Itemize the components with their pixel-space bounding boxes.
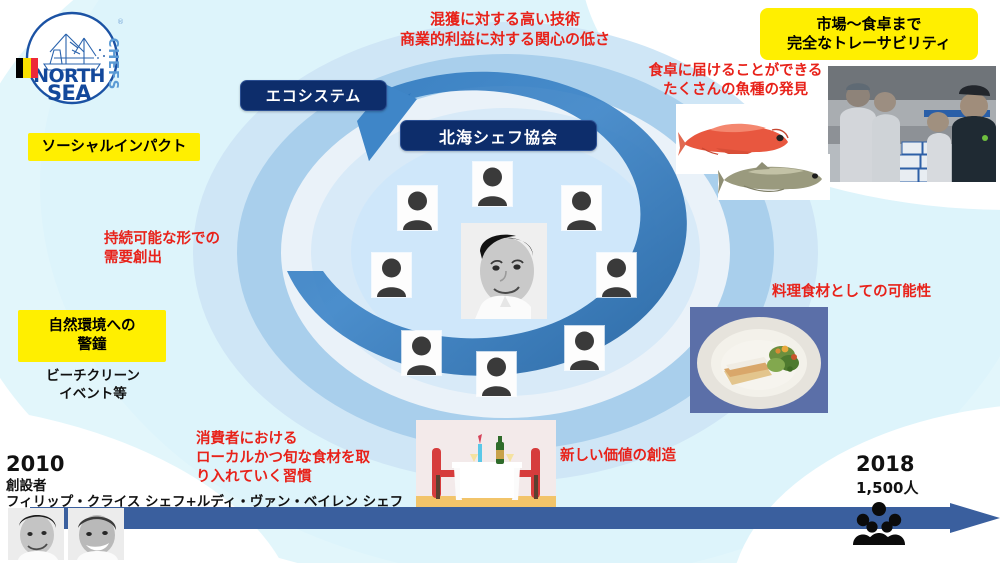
badge-nature-alarm: 自然環境への 警鐘 — [18, 310, 166, 362]
timeline-start-year: 2010 — [6, 452, 64, 476]
member-avatar — [477, 352, 516, 396]
founder-philippe-portrait — [8, 508, 64, 560]
badge-traceability-line1: 市場～食卓まで — [787, 15, 951, 34]
founder-rudy-portrait — [68, 508, 124, 560]
badge-traceability-line2: 完全なトレーサビリティ — [787, 34, 951, 53]
slide-canvas: NORTH SEA CHEFS ® エコシステム 北海シェフ協会 ソーシャルイン… — [0, 0, 1000, 563]
annotation-beach-clean: ビーチクリーン イベント等 — [18, 368, 168, 403]
badge-nature-alarm-line1: 自然環境への — [49, 317, 136, 336]
annotation-demand-creation-line2: 需要創出 — [104, 249, 294, 268]
label-association-text: 北海シェフ協会 — [439, 124, 558, 148]
timeline-end-count: 1,500人 — [856, 477, 918, 498]
north-sea-chefs-logo: NORTH SEA CHEFS ® — [14, 6, 132, 116]
founder-photos — [8, 508, 128, 560]
svg-text:®: ® — [117, 18, 124, 26]
label-association: 北海シェフ協会 — [400, 120, 597, 151]
center-chef-portrait — [461, 223, 547, 319]
annotation-cooking-potential: 料理食材としての可能性 — [772, 283, 992, 302]
annotation-fish-discovery: 食卓に届けることができる たくさんの魚種の発見 — [628, 62, 843, 100]
annotation-fish-discovery-line1: 食卓に届けることができる — [628, 62, 843, 81]
member-avatar — [402, 331, 441, 375]
annotation-demand-creation: 持続可能な形での 需要創出 — [104, 230, 294, 268]
member-avatar — [597, 253, 636, 297]
plated-fish-dish-photo — [690, 307, 828, 413]
grey-gurnard-fish-photo — [718, 154, 830, 200]
badge-social-impact: ソーシャルインパクト — [28, 133, 200, 161]
annotation-bycatch-line2: 商業的利益に対する関心の低さ — [355, 30, 655, 50]
badge-social-impact-text: ソーシャルインパクト — [42, 138, 187, 157]
fish-market-photo — [828, 66, 996, 182]
label-ecosystem-text: エコシステム — [266, 85, 362, 106]
label-ecosystem: エコシステム — [240, 80, 387, 111]
member-avatar — [562, 186, 601, 230]
annotation-demand-creation-line1: 持続可能な形での — [104, 230, 294, 249]
member-avatar — [565, 326, 604, 370]
member-avatar — [473, 162, 512, 206]
svg-text:CHEFS: CHEFS — [105, 38, 120, 91]
annotation-bycatch-line1: 混獲に対する高い技術 — [355, 10, 655, 30]
svg-text:SEA: SEA — [47, 81, 92, 105]
badge-traceability: 市場～食卓まで 完全なトレーサビリティ — [760, 8, 978, 60]
timeline-start-names: フィリップ・クライス シェフ+ルディ・ヴァン・ベイレン シェフ — [6, 490, 403, 510]
annotation-beach-clean-line2: イベント等 — [18, 386, 168, 404]
annotation-cooking-potential-text: 料理食材としての可能性 — [772, 283, 992, 302]
member-avatar — [372, 253, 411, 297]
annotation-consumer-habit-line1: 消費者における — [196, 430, 396, 449]
crowd-people-icon — [848, 500, 910, 545]
timeline-end-year: 2018 — [856, 452, 914, 476]
member-avatar — [398, 186, 437, 230]
badge-nature-alarm-line2: 警鐘 — [49, 336, 136, 355]
annotation-bycatch: 混獲に対する高い技術 商業的利益に対する関心の低さ — [355, 10, 655, 49]
belgium-flag-icon — [16, 58, 38, 78]
annotation-fish-discovery-line2: たくさんの魚種の発見 — [628, 81, 843, 100]
annotation-beach-clean-line1: ビーチクリーン — [18, 368, 168, 386]
